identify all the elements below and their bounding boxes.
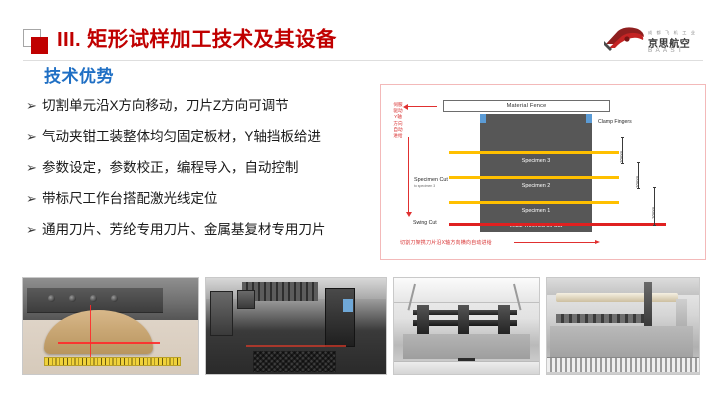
specimen-1-label: Specimen 1 <box>480 208 592 214</box>
dimension-tick <box>621 137 624 138</box>
x-feed-caption: 切割刀架携刀片沿X轴方向横向自动进给 <box>400 239 492 246</box>
measuring-ruler <box>44 357 181 366</box>
specimen-cut-line-2 <box>449 176 619 179</box>
dimension-label-2: 10mm <box>635 176 640 188</box>
bullet-arrow-icon: ➢ <box>26 189 42 209</box>
laser-line-horizontal <box>58 342 160 343</box>
list-item-label: 通用刀片、芳纶专用刀片、金属基复材专用刀片 <box>42 220 378 240</box>
dimension-label-3: 10mm <box>651 207 656 219</box>
page-title: III. 矩形试样加工技术及其设备 <box>57 24 337 56</box>
clamp-finger-left <box>480 114 486 123</box>
specimen-cut-sublabel: to specimen 3 <box>414 184 435 188</box>
title-divider <box>23 60 703 61</box>
specimen-3-label: Specimen 3 <box>480 158 592 164</box>
bullet-arrow-icon: ➢ <box>26 158 42 178</box>
advantages-list: ➢ 切割单元沿X方向移动，刀片Z方向可调节 ➢ 气动夹钳工装整体均匀固定板材，Y… <box>26 96 378 251</box>
cutting-layout-diagram: 伺服驱动Y轴方向自动进给 Material Fence Composite Pa… <box>380 84 706 260</box>
dimension-tick <box>621 163 624 164</box>
swing-cut-line <box>449 223 666 226</box>
list-item-label: 带标尺工作台搭配激光线定位 <box>42 189 378 209</box>
dimension-tick <box>637 162 640 163</box>
list-item-label: 气动夹钳工装整体均匀固定板材，Y轴挡板给进 <box>42 127 378 147</box>
photo-strip <box>22 277 708 375</box>
dimension-label-1: 10mm <box>619 151 624 163</box>
brand-logo: 成 都 飞 机 工 业 京思航空 BAAST <box>604 26 706 60</box>
wing-logo-icon <box>604 26 646 56</box>
clamp-finger-right <box>586 114 592 123</box>
photo-machine-bed-bellows <box>546 277 700 375</box>
dimension-tick <box>637 188 640 189</box>
y-feed-arrow-icon <box>407 106 437 107</box>
y-feed-axis-arrow-icon <box>408 137 409 213</box>
clamp-fingers-label: Clamp Fingers <box>598 119 632 125</box>
presentation-slide: III. 矩形试样加工技术及其设备 成 都 飞 机 工 业 京思航空 BAAST… <box>0 0 720 405</box>
photo-clamp-mechanism-carbon-panel <box>205 277 387 375</box>
photo-machine-interior-gantry <box>393 277 540 375</box>
dimension-tick <box>653 187 656 188</box>
diagram-canvas: 伺服驱动Y轴方向自动进给 Material Fence Composite Pa… <box>386 89 702 257</box>
specimen-cut-callout: Specimen Cut <box>414 177 448 183</box>
brand-subtitle: BAAST <box>648 47 685 54</box>
list-item-label: 切割单元沿X方向移动，刀片Z方向可调节 <box>42 96 378 116</box>
marker-filled-square <box>31 37 48 54</box>
specimen-cut-line-1 <box>449 201 619 204</box>
list-item: ➢ 参数设定，参数校正，编程导入，自动控制 <box>26 158 378 178</box>
specimen-2-label: Specimen 2 <box>480 183 592 189</box>
bullet-arrow-icon: ➢ <box>26 127 42 147</box>
specimen-cut-line-3 <box>449 151 619 154</box>
list-item: ➢ 切割单元沿X方向移动，刀片Z方向可调节 <box>26 96 378 116</box>
dimension-tick <box>653 225 656 226</box>
laser-line-vertical <box>90 305 91 361</box>
bullet-arrow-icon: ➢ <box>26 96 42 116</box>
list-item: ➢ 气动夹钳工装整体均匀固定板材，Y轴挡板给进 <box>26 127 378 147</box>
list-item: ➢ 带标尺工作台搭配激光线定位 <box>26 189 378 209</box>
swing-cut-callout: Swing Cut <box>413 220 437 226</box>
x-feed-arrow-icon <box>514 242 596 243</box>
list-item: ➢ 通用刀片、芳纶专用刀片、金属基复材专用刀片 <box>26 220 378 240</box>
section-heading: 技术优势 <box>44 62 114 87</box>
square-marker-icon <box>23 29 49 55</box>
photo-curved-panel-laser-alignment <box>22 277 199 375</box>
material-fence-label: Material Fence <box>443 100 610 112</box>
bullet-arrow-icon: ➢ <box>26 220 42 240</box>
list-item-label: 参数设定，参数校正，编程导入，自动控制 <box>42 158 378 178</box>
